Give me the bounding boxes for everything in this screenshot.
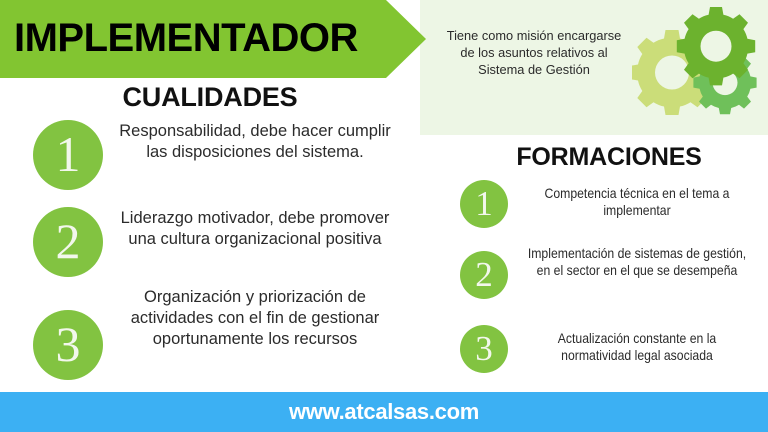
footer-bar: www.atcalsas.com bbox=[0, 392, 768, 432]
mission-panel: Tiene como misión encargarse de los asun… bbox=[420, 0, 768, 135]
bullet-number: 3 bbox=[33, 310, 103, 380]
bullet-number: 1 bbox=[33, 120, 103, 190]
cualidades-heading: CUALIDADES bbox=[0, 82, 420, 113]
list-item-text: Competencia técnica en el tema a impleme… bbox=[525, 185, 750, 219]
gears-icon bbox=[632, 4, 764, 116]
website-url[interactable]: www.atcalsas.com bbox=[289, 399, 479, 425]
infographic-canvas: Tiene como misión encargarse de los asun… bbox=[0, 0, 768, 432]
list-item-text: Responsabilidad, debe hacer cumplir las … bbox=[110, 121, 400, 163]
bullet-number: 2 bbox=[460, 251, 508, 299]
bullet-number: 1 bbox=[460, 180, 508, 228]
list-item-text: Liderazgo motivador, debe promover una c… bbox=[110, 208, 400, 250]
bullet-number: 3 bbox=[460, 325, 508, 373]
formaciones-heading: FORMACIONES bbox=[450, 143, 768, 172]
list-item-text: Organización y priorización de actividad… bbox=[110, 287, 400, 350]
mission-statement: Tiene como misión encargarse de los asun… bbox=[438, 27, 630, 78]
page-title: IMPLEMENTADOR bbox=[14, 13, 394, 63]
list-item-text: Actualización constante en la normativid… bbox=[525, 330, 750, 364]
bullet-number: 2 bbox=[33, 207, 103, 277]
list-item-text: Implementación de sistemas de gestión, e… bbox=[525, 245, 750, 279]
